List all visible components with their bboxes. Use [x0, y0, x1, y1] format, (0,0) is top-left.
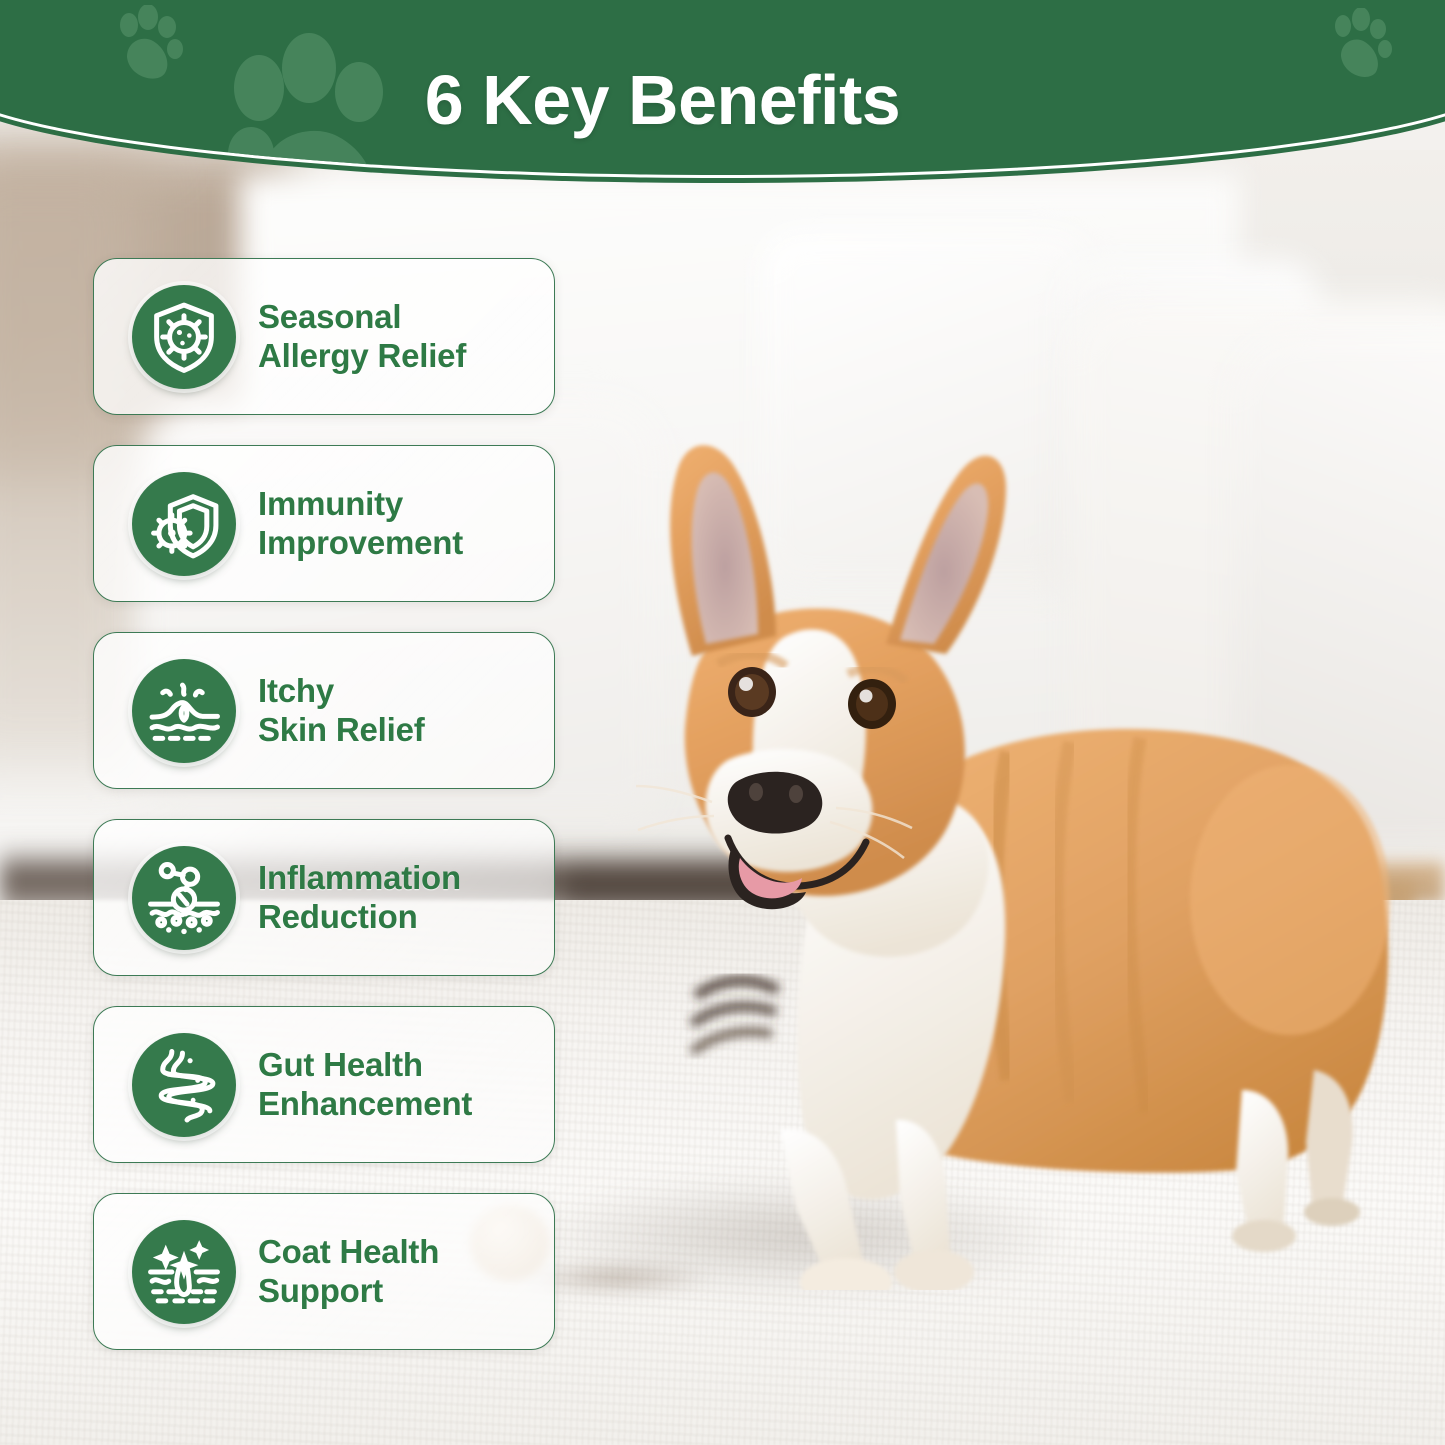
benefit-card-immunity-improvement[interactable]: Immunity Improvement: [93, 445, 555, 602]
header-banner: 6 Key Benefits: [0, 0, 1445, 175]
benefit-label: Gut Health Enhancement: [258, 1046, 472, 1123]
benefit-label-line2: Support: [258, 1272, 439, 1311]
benefit-label: Immunity Improvement: [258, 485, 463, 562]
itchy-skin-icon: [132, 659, 236, 763]
intestine-icon: [132, 1033, 236, 1137]
benefit-card-coat-health-support[interactable]: Coat Health Support: [93, 1193, 555, 1350]
benefit-label-line1: Gut Health: [258, 1046, 472, 1085]
benefit-label: Inflammation Reduction: [258, 859, 461, 936]
hair-follicle-icon: [132, 1220, 236, 1324]
molecule-skin-icon: [132, 846, 236, 950]
page-title: 6 Key Benefits: [0, 0, 1385, 175]
shield-germ-icon: [132, 472, 236, 576]
benefit-label-line2: Reduction: [258, 898, 461, 937]
benefit-card-seasonal-allergy-relief[interactable]: Seasonal Allergy Relief: [93, 258, 555, 415]
benefit-label-line2: Improvement: [258, 524, 463, 563]
shield-virus-icon: [132, 285, 236, 389]
benefit-card-itchy-skin-relief[interactable]: Itchy Skin Relief: [93, 632, 555, 789]
benefit-label-line1: Seasonal: [258, 298, 466, 337]
benefit-label-line2: Enhancement: [258, 1085, 472, 1124]
benefit-label-line2: Allergy Relief: [258, 337, 466, 376]
benefit-label: Coat Health Support: [258, 1233, 439, 1310]
benefit-label-line1: Inflammation: [258, 859, 461, 898]
benefit-label: Seasonal Allergy Relief: [258, 298, 466, 375]
benefit-label-line1: Itchy: [258, 672, 425, 711]
benefit-card-inflammation-reduction[interactable]: Inflammation Reduction: [93, 819, 555, 976]
benefits-list: Seasonal Allergy Relief: [93, 258, 553, 1380]
benefit-label-line2: Skin Relief: [258, 711, 425, 750]
infographic-canvas: 6 Key Benefits S: [0, 0, 1445, 1445]
benefit-label-line1: Immunity: [258, 485, 463, 524]
benefit-card-gut-health-enhancement[interactable]: Gut Health Enhancement: [93, 1006, 555, 1163]
benefit-label: Itchy Skin Relief: [258, 672, 425, 749]
benefit-label-line1: Coat Health: [258, 1233, 439, 1272]
corgi-dog: [600, 430, 1445, 1290]
